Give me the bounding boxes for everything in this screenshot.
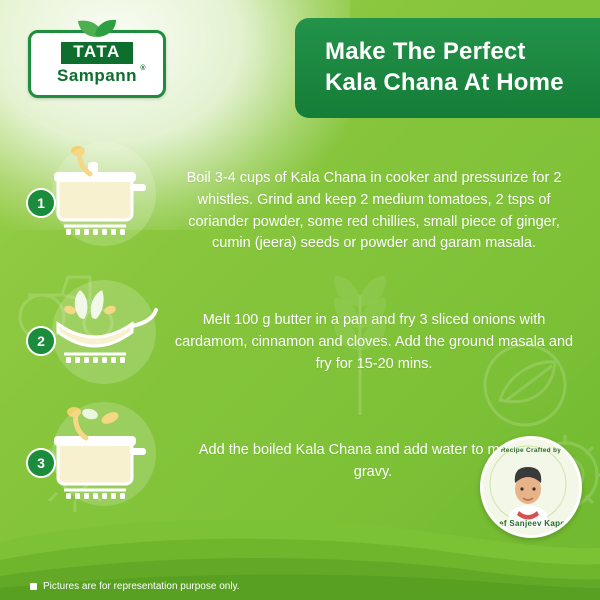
footer-disclaimer: Pictures are for representation purpose … [30,581,240,592]
step-1: 1 Boil 3-4 cups of Kala Chana in cooker … [18,140,580,255]
step-2: 2 Melt 100 g butter in a pan and fry 3 s… [18,278,574,393]
footer-disclaimer-text: Pictures are for representation purpose … [43,581,240,592]
bullet-icon [30,583,37,590]
page-title-line1: Make The Perfect [325,37,564,68]
illustration-circle [52,402,156,506]
page-title-line2: Kala Chana At Home [325,68,564,99]
step-2-illustration: 2 [18,278,168,393]
step-1-text: Boil 3-4 cups of Kala Chana in cooker an… [168,140,580,255]
leaf-icon [77,19,117,37]
chef-badge-top-text: Recipe Crafted by [483,447,579,454]
tata-sampann-logo: TATA Sampann [28,30,166,98]
illustration-circle [52,142,156,246]
step-3-number: 3 [26,448,56,478]
step-1-illustration: 1 [18,140,168,255]
logo-sampann-text: Sampann [57,66,137,86]
logo-tata-text: TATA [61,42,133,64]
recipe-poster: TATA Sampann Make The Perfect Kala Chana… [0,0,600,600]
page-title: Make The Perfect Kala Chana At Home [325,37,564,98]
step-1-number: 1 [26,188,56,218]
step-3-illustration: 3 [18,400,168,515]
header-panel: Make The Perfect Kala Chana At Home [295,18,600,118]
step-2-number: 2 [26,326,56,356]
step-2-text: Melt 100 g butter in a pan and fry 3 sli… [168,278,574,375]
illustration-circle [52,280,156,384]
